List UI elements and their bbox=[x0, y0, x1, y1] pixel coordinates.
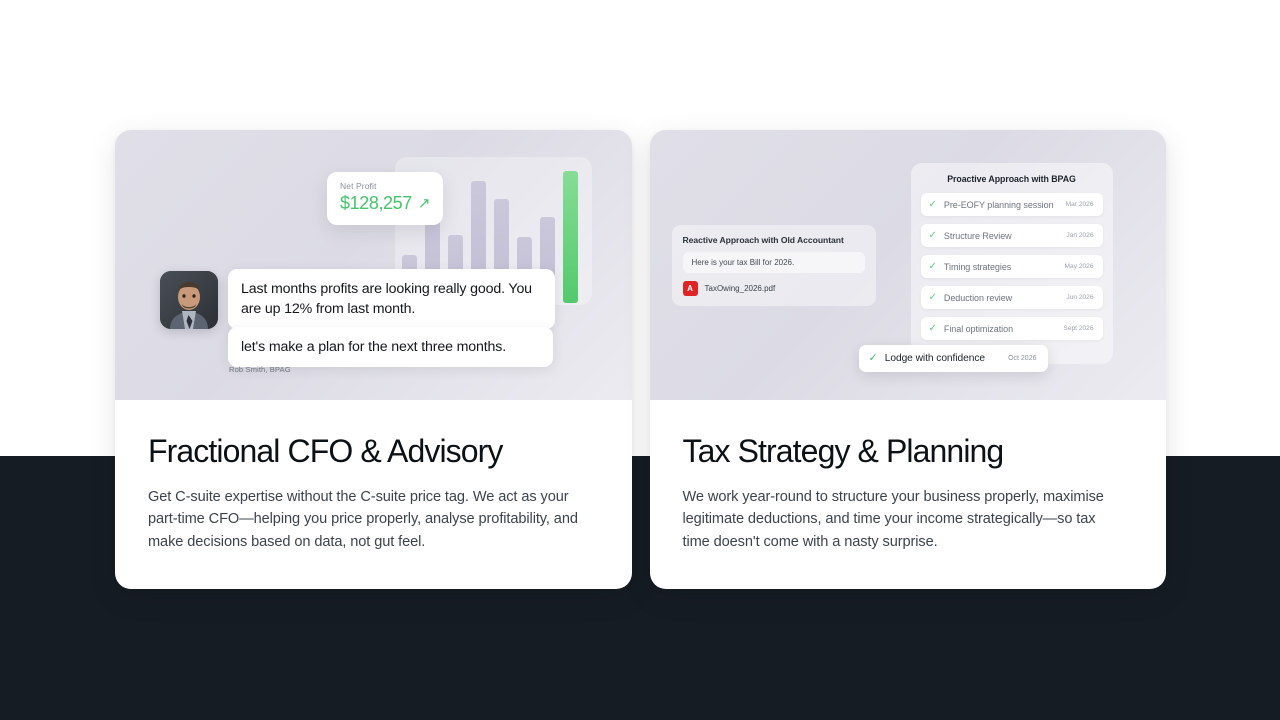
check-icon: ✓ bbox=[929, 262, 937, 272]
card-media-tax: Reactive Approach with Old Accountant He… bbox=[650, 130, 1167, 400]
checklist-item-date: Mar 2026 bbox=[1066, 201, 1094, 208]
checklist-item-date: Jan 2026 bbox=[1066, 232, 1093, 239]
card-title: Tax Strategy & Planning bbox=[683, 434, 1134, 469]
card-description: Get C-suite expertise without the C-suit… bbox=[148, 486, 590, 554]
reactive-approach-message: Here is your tax Bill for 2026. bbox=[683, 252, 865, 273]
net-profit-kpi-card: Net Profit $128,257 ↗ bbox=[327, 172, 443, 225]
checklist-item-label: Structure Review bbox=[944, 231, 1066, 241]
pdf-file-name: TaxOwing_2026.pdf bbox=[705, 284, 776, 293]
checklist-item-highlight[interactable]: ✓ Lodge with confidence Oct 2026 bbox=[859, 345, 1048, 372]
check-icon: ✓ bbox=[929, 200, 937, 210]
feature-cards-row: Net Profit $128,257 ↗ bbox=[115, 130, 1166, 589]
check-icon: ✓ bbox=[929, 293, 937, 303]
chat-bubble: let's make a plan for the next three mon… bbox=[228, 327, 553, 367]
checklist-item-date: Oct 2026 bbox=[1008, 355, 1036, 362]
checklist-item[interactable]: ✓ Deduction review Jun 2026 bbox=[921, 286, 1103, 309]
reactive-approach-title: Reactive Approach with Old Accountant bbox=[683, 235, 865, 245]
chat-caption: Rob Smith, BPAG bbox=[229, 365, 291, 374]
proactive-approach-card: Proactive Approach with BPAG ✓ Pre-EOFY … bbox=[911, 163, 1113, 364]
checklist-item-label: Final optimization bbox=[944, 324, 1064, 334]
card-media-cfo: Net Profit $128,257 ↗ bbox=[115, 130, 632, 400]
checklist-item[interactable]: ✓ Final optimization Sept 2026 bbox=[921, 317, 1103, 340]
pdf-file-icon: A bbox=[683, 281, 698, 296]
check-icon: ✓ bbox=[929, 231, 937, 241]
checklist-item-label: Deduction review bbox=[944, 293, 1066, 303]
checklist-item-label: Pre-EOFY planning session bbox=[944, 200, 1066, 210]
kpi-value-row: $128,257 ↗ bbox=[340, 193, 430, 214]
check-icon: ✓ bbox=[869, 353, 878, 364]
checklist-item[interactable]: ✓ Timing strategies May 2026 bbox=[921, 255, 1103, 278]
kpi-amount: $128,257 bbox=[340, 193, 412, 214]
checklist-item-date: Sept 2026 bbox=[1063, 325, 1093, 332]
card-body-tax: Tax Strategy & Planning We work year-rou… bbox=[650, 400, 1167, 553]
chat-bubble: Last months profits are looking really g… bbox=[228, 269, 555, 329]
checklist-item-label: Lodge with confidence bbox=[885, 353, 1008, 364]
feature-card-fractional-cfo[interactable]: Net Profit $128,257 ↗ bbox=[115, 130, 632, 589]
reactive-approach-card: Reactive Approach with Old Accountant He… bbox=[672, 225, 876, 306]
checklist-item-label: Timing strategies bbox=[944, 262, 1065, 272]
checklist-item[interactable]: ✓ Structure Review Jan 2026 bbox=[921, 224, 1103, 247]
pdf-attachment-row[interactable]: A TaxOwing_2026.pdf bbox=[683, 281, 865, 296]
proactive-approach-title: Proactive Approach with BPAG bbox=[921, 174, 1103, 184]
check-icon: ✓ bbox=[929, 324, 937, 334]
checklist-item-date: Jun 2026 bbox=[1066, 294, 1093, 301]
avatar bbox=[160, 271, 218, 329]
card-description: We work year-round to structure your bus… bbox=[683, 486, 1125, 554]
card-body-cfo: Fractional CFO & Advisory Get C-suite ex… bbox=[115, 400, 632, 553]
kpi-label: Net Profit bbox=[340, 181, 430, 191]
chart-bar-highlight bbox=[563, 171, 578, 303]
arrow-up-right-icon: ↗ bbox=[418, 196, 430, 211]
card-title: Fractional CFO & Advisory bbox=[148, 434, 599, 469]
checklist-item-date: May 2026 bbox=[1065, 263, 1094, 270]
checklist-item[interactable]: ✓ Pre-EOFY planning session Mar 2026 bbox=[921, 193, 1103, 216]
feature-card-tax-strategy[interactable]: Reactive Approach with Old Accountant He… bbox=[650, 130, 1167, 589]
page-root: Net Profit $128,257 ↗ bbox=[0, 0, 1280, 720]
